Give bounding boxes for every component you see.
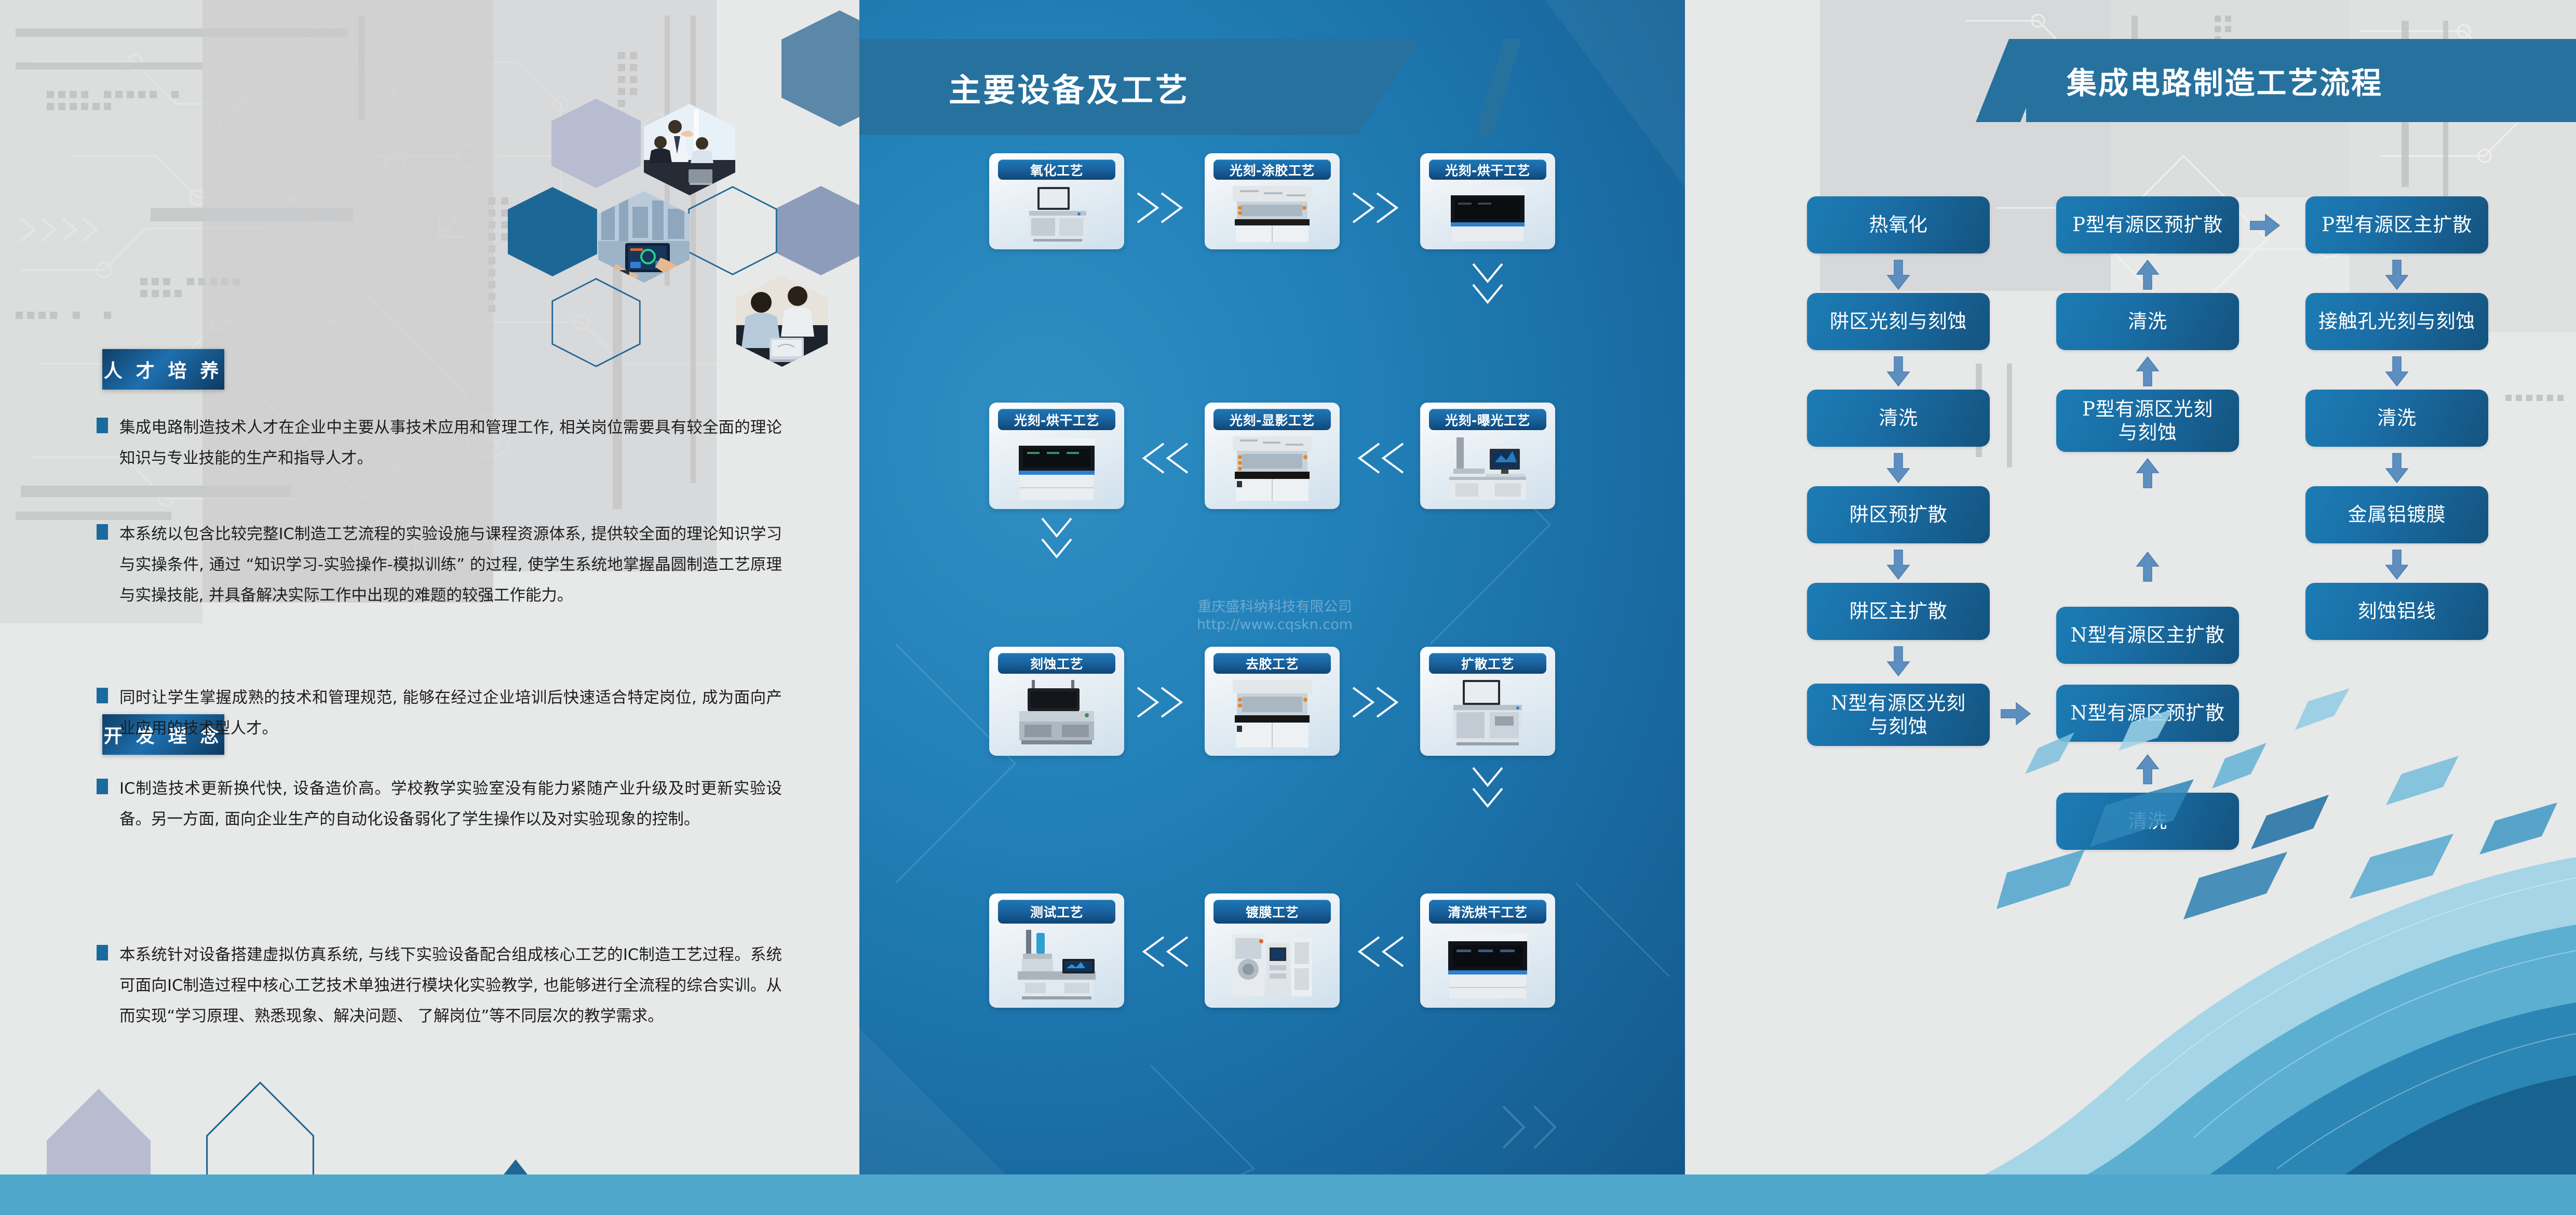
flow-box[interactable]: P型有源区预扩散 bbox=[2056, 196, 2239, 253]
hexagon-outline-2 bbox=[551, 278, 641, 367]
chevron-right-icon bbox=[1349, 186, 1407, 230]
flow-box[interactable]: 清洗 bbox=[2305, 390, 2488, 447]
equipment-photo-diffusion-furnace bbox=[1429, 679, 1546, 750]
paragraph-text: 同时让学生掌握成熟的技术和管理规范, 能够在经过企业培训后快速适合特定岗位, 成… bbox=[119, 683, 782, 744]
equipment-label: 扩散工艺 bbox=[1429, 653, 1546, 674]
flow-box[interactable]: 阱区主扩散 bbox=[1807, 583, 1990, 640]
chevron-down-icon bbox=[1035, 514, 1078, 566]
flow-box[interactable]: 清洗 bbox=[1807, 390, 1990, 447]
arrow-up-icon bbox=[2135, 260, 2161, 290]
flow-box[interactable]: 接触孔光刻与刻蚀 bbox=[2305, 293, 2488, 350]
flow-box[interactable]: 清洗 bbox=[2056, 793, 2239, 850]
flow-box[interactable]: 热氧化 bbox=[1807, 196, 1990, 253]
middle-panel: 主要设备及工艺 氧化工艺 光刻-涂胶工艺 bbox=[859, 0, 1685, 1215]
flow-box[interactable]: N型有源区主扩散 bbox=[2056, 607, 2239, 664]
chevron-down-icon bbox=[1466, 764, 1509, 816]
flow-box[interactable]: P型有源区光刻 与刻蚀 bbox=[2056, 390, 2239, 452]
equipment-label: 光刻-显影工艺 bbox=[1213, 409, 1331, 430]
equipment-photo-oxidation-furnace bbox=[998, 185, 1115, 243]
equipment-photo-bake-oven-2 bbox=[998, 435, 1115, 503]
equipment-card[interactable]: 光刻-涂胶工艺 bbox=[1205, 153, 1340, 249]
paragraph-text: 本系统以包含比较完整IC制造工艺流程的实验设施与课程资源体系, 提供较全面的理论… bbox=[119, 519, 782, 611]
flow-box[interactable]: 阱区预扩散 bbox=[1807, 486, 1990, 543]
right-panel: 集成电路制造工艺流程 热氧化 阱区光刻与刻蚀 清洗 阱区预扩散 阱区主扩散 N型… bbox=[1685, 0, 2576, 1215]
equipment-card[interactable]: 刻蚀工艺 bbox=[989, 647, 1124, 756]
flow-box[interactable]: P型有源区主扩散 bbox=[2305, 196, 2488, 253]
arrow-up-icon bbox=[2135, 552, 2161, 582]
equipment-label: 测试工艺 bbox=[998, 900, 1115, 924]
equipment-photo-bake-oven bbox=[1429, 185, 1546, 243]
chevron-left-icon bbox=[1349, 930, 1407, 973]
right-panel-title: 集成电路制造工艺流程 bbox=[2067, 59, 2383, 102]
equipment-card[interactable]: 光刻-烘干工艺 bbox=[1420, 153, 1555, 249]
arrow-right-icon bbox=[2001, 700, 2031, 727]
equipment-card[interactable]: 光刻-显影工艺 bbox=[1205, 403, 1340, 509]
equipment-card[interactable]: 扩散工艺 bbox=[1420, 647, 1555, 756]
paragraph-talent-2: 本系统以包含比较完整IC制造工艺流程的实验设施与课程资源体系, 提供较全面的理论… bbox=[97, 519, 782, 611]
chevron-down-icon bbox=[1466, 260, 1509, 312]
paragraph-text: 本系统针对设备搭建虚拟仿真系统, 与线下实验设备配合组成核心工艺的IC制造工艺过… bbox=[119, 940, 782, 1032]
watermark-company: 重庆盛科纳科技有限公司 bbox=[1161, 598, 1389, 616]
equipment-card[interactable]: 氧化工艺 bbox=[989, 153, 1124, 249]
flow-box[interactable]: N型有源区光刻 与刻蚀 bbox=[1807, 684, 1990, 746]
equipment-photo-sputter-coater bbox=[1213, 929, 1331, 1002]
middle-panel-title: 主要设备及工艺 bbox=[949, 64, 1190, 111]
arrow-down-icon bbox=[1885, 260, 1911, 290]
paragraph-text: IC制造技术更新换代快, 设备造价高。学校教学实验室没有能力紧随产业升级及时更新… bbox=[119, 774, 782, 835]
equipment-card[interactable]: 测试工艺 bbox=[989, 893, 1124, 1008]
chevron-left-icon bbox=[1134, 436, 1192, 480]
equipment-label: 光刻-曝光工艺 bbox=[1429, 409, 1546, 430]
equipment-label: 光刻-烘干工艺 bbox=[998, 409, 1115, 430]
equipment-card[interactable]: 去胶工艺 bbox=[1205, 647, 1340, 756]
equipment-photo-clean-dry-oven bbox=[1429, 929, 1546, 1002]
arrow-right-icon bbox=[2250, 212, 2280, 239]
watermark-url: http://www.cqskn.com bbox=[1161, 616, 1389, 634]
wave-decoration bbox=[1685, 795, 2576, 1215]
paragraph-talent-1: 集成电路制造技术人才在企业中主要从事技术应用和管理工作, 相关岗位需要具有较全面… bbox=[97, 413, 782, 474]
flow-box[interactable]: N型有源区预扩散 bbox=[2056, 685, 2239, 742]
paragraph-text: 集成电路制造技术人才在企业中主要从事技术应用和管理工作, 相关岗位需要具有较全面… bbox=[119, 413, 782, 474]
equipment-label: 刻蚀工艺 bbox=[998, 653, 1115, 674]
flow-box[interactable]: 阱区光刻与刻蚀 bbox=[1807, 293, 1990, 350]
arrow-down-icon bbox=[1885, 453, 1911, 483]
bullet-square-icon bbox=[97, 418, 108, 433]
section-tag-talent-development: 人 才 培 养 bbox=[102, 349, 224, 390]
arrow-down-icon bbox=[1885, 356, 1911, 386]
arrow-down-icon bbox=[1885, 550, 1911, 580]
hexagon-outline-1 bbox=[688, 186, 777, 275]
photo-hexagon-students-laptop bbox=[736, 275, 828, 367]
paragraph-concept-1: IC制造技术更新换代快, 设备造价高。学校教学实验室没有能力紧随产业升级及时更新… bbox=[97, 774, 782, 835]
equipment-card[interactable]: 光刻-烘干工艺 bbox=[989, 403, 1124, 509]
arrow-up-icon bbox=[2135, 458, 2161, 488]
equipment-label: 镀膜工艺 bbox=[1213, 900, 1331, 924]
equipment-card[interactable]: 清洗烘干工艺 bbox=[1420, 893, 1555, 1008]
equipment-photo-etch-tool bbox=[998, 679, 1115, 750]
bottom-accent-bar bbox=[0, 1174, 2576, 1215]
hexagon-solid-steel bbox=[776, 186, 859, 275]
equipment-card[interactable]: 光刻-曝光工艺 bbox=[1420, 403, 1555, 509]
chevron-left-icon bbox=[1349, 436, 1407, 480]
bullet-square-icon bbox=[97, 688, 108, 703]
arrow-up-icon bbox=[2135, 356, 2161, 386]
right-panel-header: 集成电路制造工艺流程 bbox=[2026, 39, 2576, 122]
arrow-down-icon bbox=[2384, 356, 2410, 386]
bullet-square-icon bbox=[97, 779, 108, 794]
paragraph-concept-2: 本系统针对设备搭建虚拟仿真系统, 与线下实验设备配合组成核心工艺的IC制造工艺过… bbox=[97, 940, 782, 1032]
flow-box[interactable]: 金属铝镀膜 bbox=[2305, 486, 2488, 543]
bullet-square-icon bbox=[97, 945, 108, 960]
watermark: 重庆盛科纳科技有限公司 http://www.cqskn.com bbox=[1161, 598, 1389, 634]
equipment-photo-strip-hood bbox=[1213, 679, 1331, 750]
equipment-label: 去胶工艺 bbox=[1213, 653, 1331, 674]
chevron-right-icon bbox=[1134, 680, 1192, 724]
arrow-down-icon bbox=[2384, 260, 2410, 290]
equipment-photo-probe-station bbox=[998, 929, 1115, 1002]
equipment-label: 清洗烘干工艺 bbox=[1429, 900, 1546, 924]
bullet-square-icon bbox=[97, 524, 108, 540]
equipment-photo-exposure-station bbox=[1429, 435, 1546, 503]
grey-block-1 bbox=[203, 0, 493, 603]
hexagon-solid-blue-large bbox=[781, 10, 859, 127]
equipment-label: 光刻-烘干工艺 bbox=[1429, 159, 1546, 180]
arrow-down-icon bbox=[2384, 550, 2410, 580]
left-panel: 人 才 培 养 开 发 理 念 集成电路制造技术人才在企业中主要从事技术应用和管… bbox=[0, 0, 859, 1215]
chevron-right-icon bbox=[1134, 186, 1192, 230]
middle-panel-header: 主要设备及工艺 bbox=[859, 39, 1482, 135]
flow-box[interactable]: 刻蚀铝线 bbox=[2305, 583, 2488, 640]
equipment-card[interactable]: 镀膜工艺 bbox=[1205, 893, 1340, 1008]
arrow-down-icon bbox=[1885, 646, 1911, 676]
paragraph-talent-3: 同时让学生掌握成熟的技术和管理规范, 能够在经过企业培训后快速适合特定岗位, 成… bbox=[97, 683, 782, 744]
equipment-label: 光刻-涂胶工艺 bbox=[1213, 159, 1331, 180]
equipment-photo-develop-hood bbox=[1213, 435, 1331, 503]
chevron-left-icon bbox=[1134, 930, 1192, 973]
arrow-down-icon bbox=[2384, 453, 2410, 483]
arrow-up-icon bbox=[2135, 754, 2161, 784]
equipment-label: 氧化工艺 bbox=[998, 159, 1115, 180]
chevron-right-icon bbox=[1349, 680, 1407, 724]
flow-box[interactable]: 清洗 bbox=[2056, 293, 2239, 350]
equipment-photo-coater-hood bbox=[1213, 185, 1331, 243]
header-slash-accent bbox=[1475, 39, 1521, 135]
